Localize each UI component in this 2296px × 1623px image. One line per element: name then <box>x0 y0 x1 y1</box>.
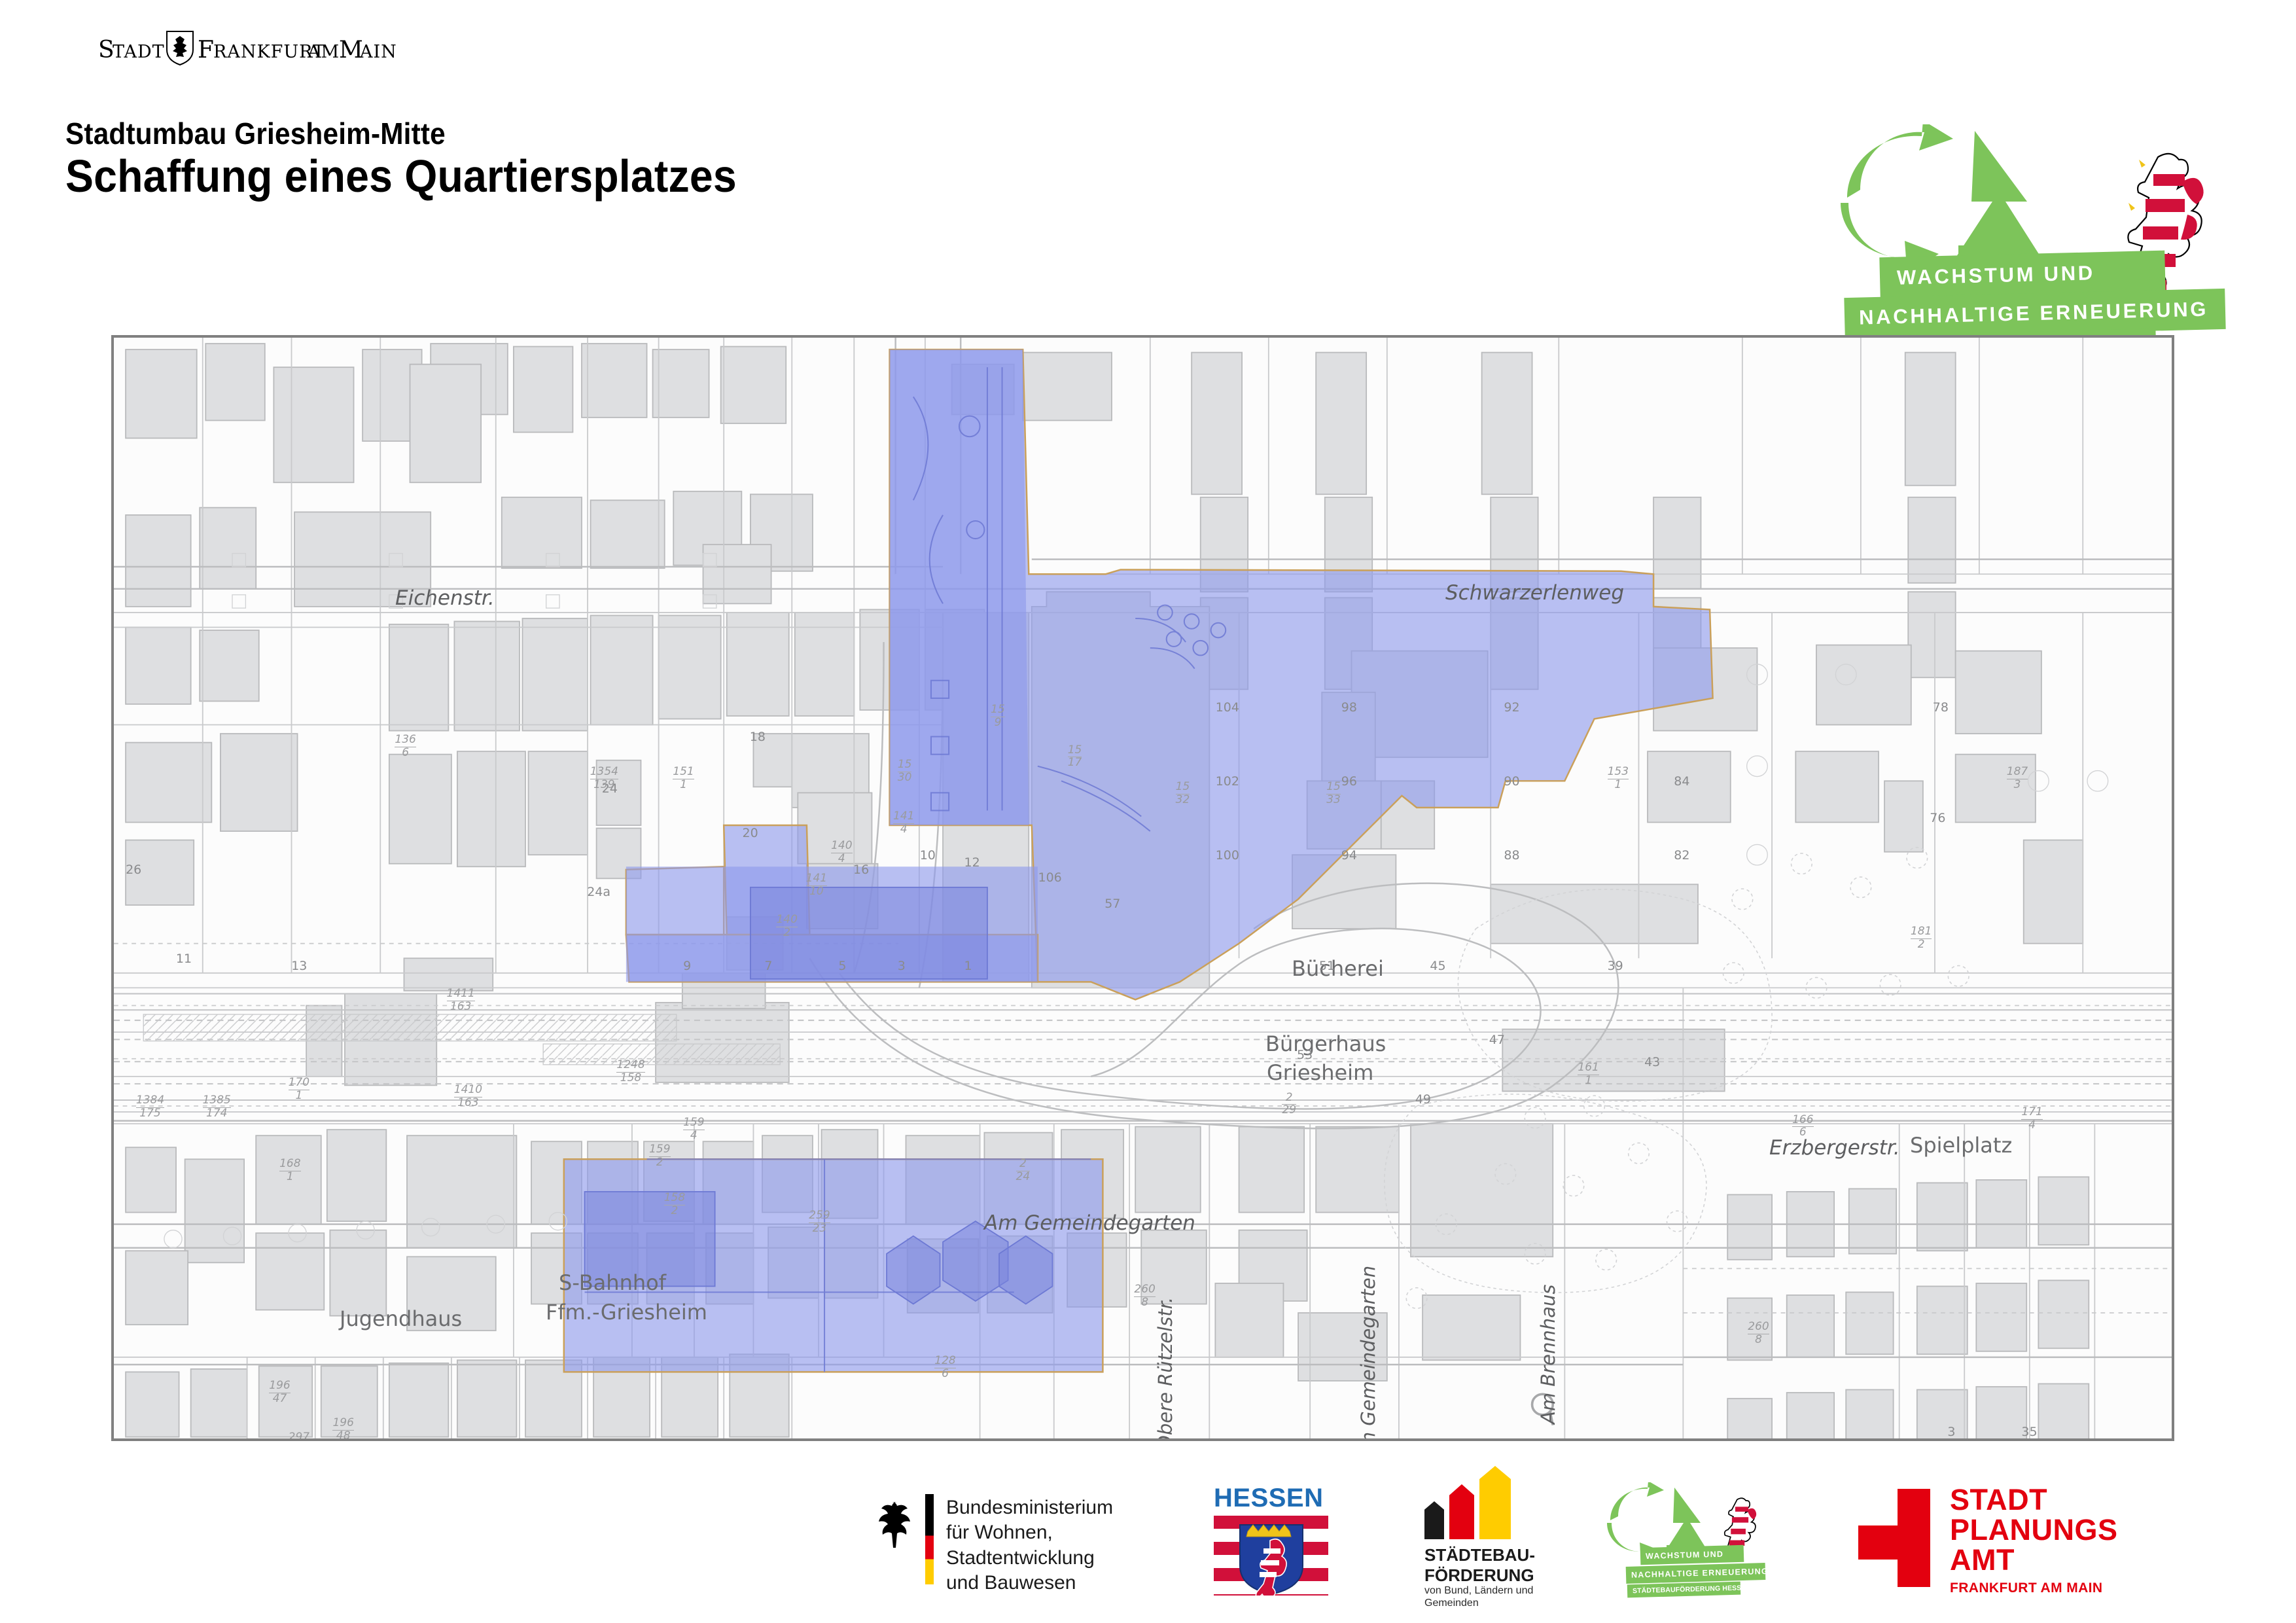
wachstum-small-line1: WACHSTUM UND <box>1640 1545 1744 1565</box>
federal-eagle-icon <box>870 1499 913 1550</box>
hessen-flag-icon <box>1214 1516 1328 1596</box>
german-flag-bar-icon <box>925 1494 934 1584</box>
spa-line-1: STADT <box>1950 1485 2118 1515</box>
page-title: Schaffung eines Quartiersplatzes <box>65 153 1450 200</box>
staedtebaufoerderung-title: STÄDTEBAU- FÖRDERUNG <box>1424 1545 1535 1585</box>
svg-text:AM: AM <box>307 42 340 62</box>
stadtplanungsamt-logo: STADT PLANUNGS AMT FRANKFURT AM MAIN <box>1858 1485 2199 1596</box>
wachstum-band-line2: NACHHALTIGE ERNEUERUNG <box>1844 289 2225 338</box>
svg-text:F: F <box>198 37 215 63</box>
funding-logo-row: Bundesministerium für Wohnen, Stadtentwi… <box>0 1476 2296 1607</box>
frankfurt-crest-icon: S TADT F RANKFURT AM M AIN <box>98 27 517 67</box>
house-black-icon <box>1424 1501 1444 1539</box>
hessen-wordmark: HESSEN <box>1214 1484 1332 1513</box>
house-red-icon <box>1449 1484 1474 1539</box>
wachstum-logo-small: WACHSTUM UND NACHHALTIGE ERNEUERUNG STÄD… <box>1606 1482 1796 1600</box>
spa-subline: FRANKFURT AM MAIN <box>1950 1580 2118 1596</box>
svg-text:AIN: AIN <box>359 42 397 62</box>
bundesministerium-label: Bundesministerium für Wohnen, Stadtentwi… <box>946 1495 1178 1596</box>
map-drawing <box>114 338 2172 1438</box>
house-yellow-icon <box>1479 1466 1511 1539</box>
staedtebaufoerderung-sub: von Bund, Ländern und Gemeinden <box>1424 1584 1533 1609</box>
staedtebaufoerderung-logo: STÄDTEBAU- FÖRDERUNG von Bund, Ländern u… <box>1417 1485 1561 1599</box>
svg-text:TADT: TADT <box>113 42 165 62</box>
city-of-frankfurt-logo: S TADT F RANKFURT AM M AIN <box>98 27 517 67</box>
stadtplanungsamt-text: STADT PLANUNGS AMT FRANKFURT AM MAIN <box>1950 1485 2118 1596</box>
hessen-state-logo: HESSEN <box>1214 1484 1332 1595</box>
hessen-shield-icon <box>1237 1522 1305 1596</box>
title-block: Stadtumbau Griesheim-Mitte Schaffung ein… <box>65 118 1570 200</box>
cadastral-map[interactable]: Eichenstr. Schwarzerlenweg Erzbergerstr.… <box>111 335 2174 1441</box>
bundesministerium-logo: Bundesministerium für Wohnen, Stadtentwi… <box>870 1490 1178 1588</box>
stadtplanungsamt-mark-icon <box>1858 1489 1930 1587</box>
spa-line-3: AMT <box>1950 1545 2118 1575</box>
project-subtitle: Stadtumbau Griesheim-Mitte <box>65 118 1450 149</box>
spa-line-2: PLANUNGS <box>1950 1515 2118 1545</box>
